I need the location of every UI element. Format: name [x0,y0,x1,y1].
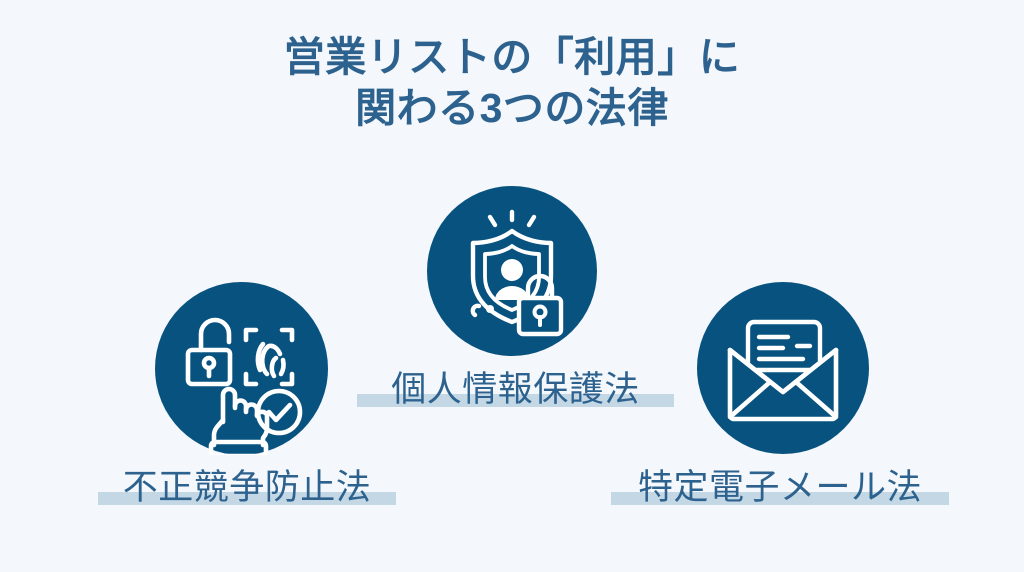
page-title: 営業リストの「利用」に 関わる3つの法律 [0,32,1024,134]
unlock-fingerprint-hand-check-icon [155,282,328,455]
open-envelope-letter-icon [697,282,869,454]
icon-circle-right [697,282,869,454]
slide-canvas: 営業リストの「利用」に 関わる3つの法律 [0,0,1024,572]
shield-person-lock-icon [427,186,597,356]
icon-circle-center [427,186,597,356]
icon-circle-left [155,282,328,455]
law-label-center-text: 個人情報保護法 [387,368,644,412]
law-label-left-text: 不正競争防止法 [119,466,376,510]
page-title-line-1: 営業リストの「利用」に [0,32,1024,83]
law-label-center: 個人情報保護法 [357,368,674,412]
page-title-line-2: 関わる3つの法律 [0,83,1024,134]
law-label-right: 特定電子メール法 [611,466,949,510]
law-label-left: 不正競争防止法 [98,466,396,510]
law-label-right-text: 特定電子メール法 [634,466,926,510]
